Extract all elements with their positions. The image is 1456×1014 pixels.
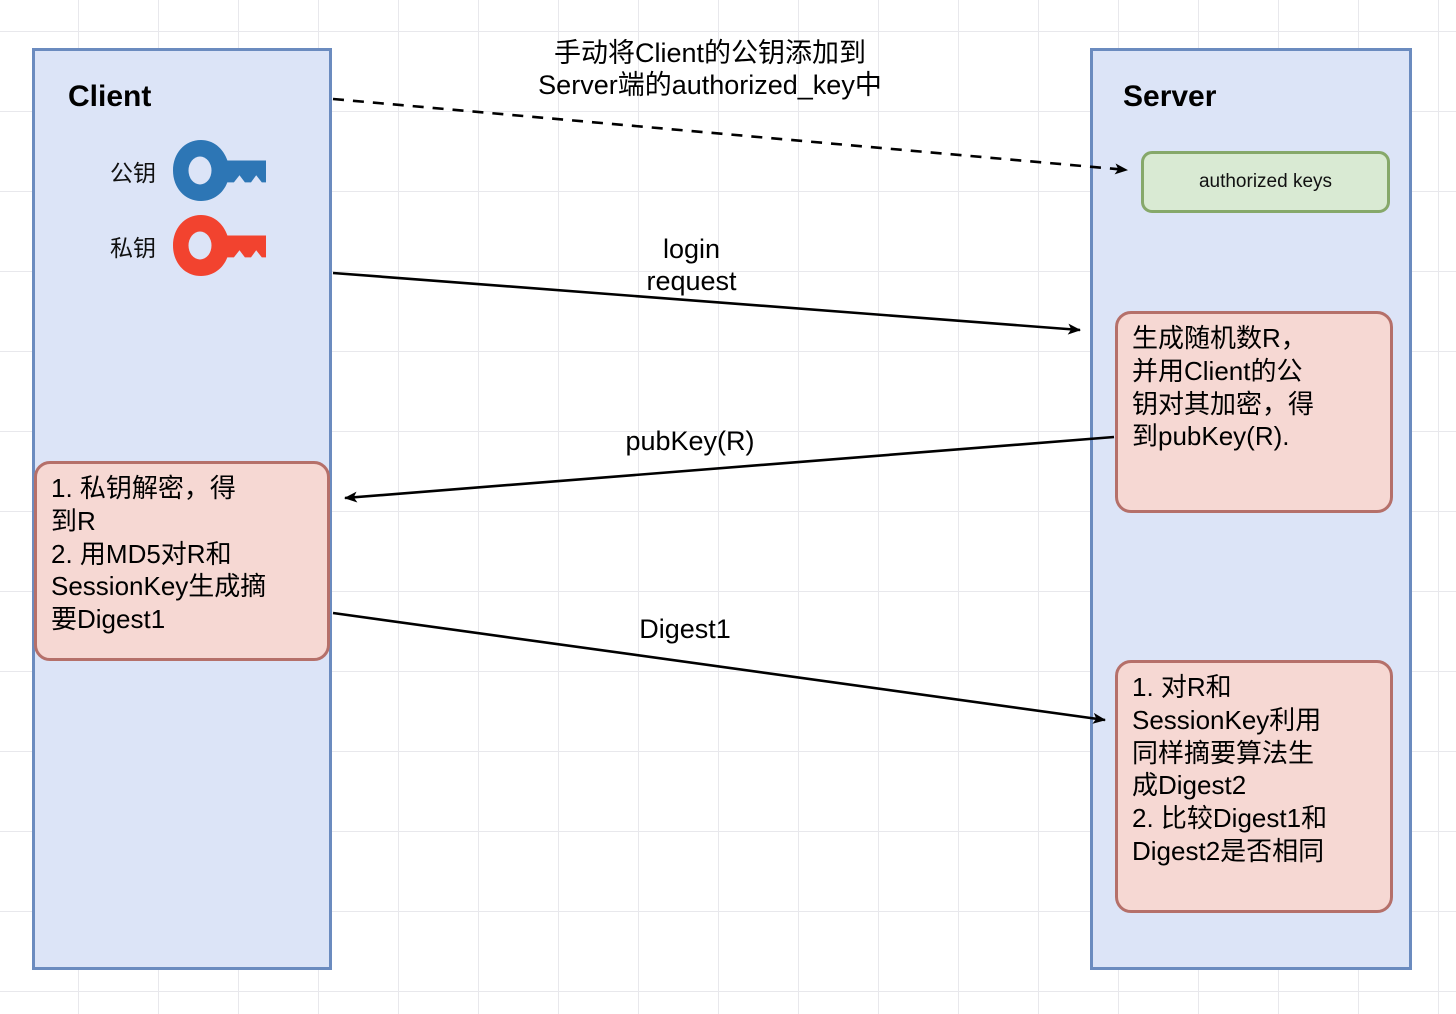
- edge-manual-add-public-key: [333, 99, 1127, 170]
- public-key-row: 公钥: [110, 140, 266, 202]
- key-icon: [170, 140, 266, 202]
- client-note-decrypt-digest: 1. 私钥解密，得 到R 2. 用MD5对R和 SessionKey生成摘 要D…: [34, 461, 330, 661]
- edge-label-manual-add-public-key: 手动将Client的公钥添加到 Server端的authorized_key中: [455, 38, 965, 102]
- diagram-canvas: Client Server 公钥 私钥 authorized keys 生成随机…: [0, 0, 1456, 1014]
- authorized-keys-box: authorized keys: [1141, 151, 1390, 213]
- edge-label-login-request: login request: [584, 234, 799, 298]
- public-key-label: 公钥: [110, 154, 156, 188]
- private-key-row: 私钥: [110, 215, 266, 277]
- client-title: Client: [68, 80, 151, 114]
- server-title: Server: [1123, 80, 1216, 114]
- private-key-label: 私钥: [110, 229, 156, 263]
- key-icon: [170, 215, 266, 277]
- server-note-generate-random: 生成随机数R， 并用Client的公 钥对其加密，得 到pubKey(R).: [1115, 311, 1393, 513]
- edge-label-digest1: Digest1: [585, 614, 785, 646]
- server-note-verify-digest: 1. 对R和 SessionKey利用 同样摘要算法生 成Digest2 2. …: [1115, 660, 1393, 913]
- authorized-keys-label: authorized keys: [1199, 171, 1332, 193]
- edge-label-pubkey-r: pubKey(R): [570, 426, 810, 458]
